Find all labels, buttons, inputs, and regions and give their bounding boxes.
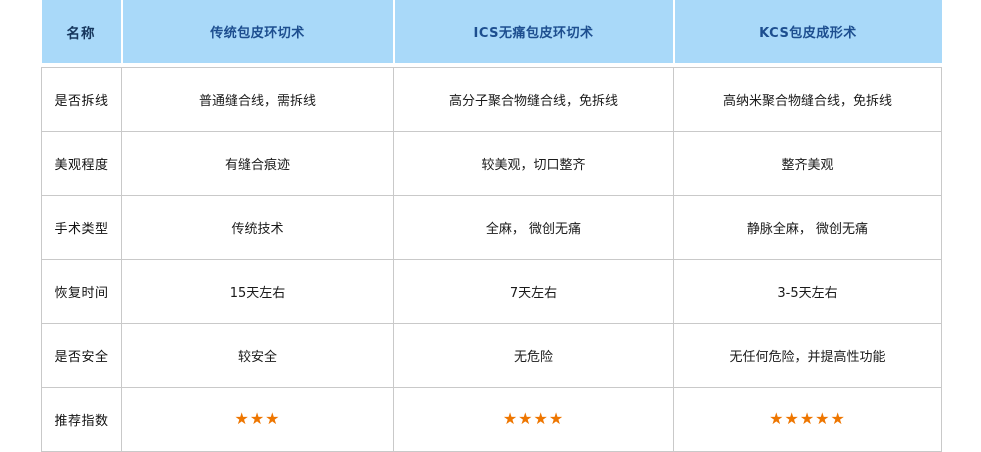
cell-suture-removal-traditional: 普通缝合线，需拆线: [122, 68, 394, 132]
cell-surgery-type-traditional: 传统技术: [122, 196, 394, 260]
row-label-recommendation-index: 推荐指数: [42, 388, 122, 452]
cell-aesthetics-kcs: 整齐美观: [674, 132, 942, 196]
table-row: 是否安全 较安全 无危险 无任何危险，并提高性功能: [42, 324, 942, 388]
row-label-surgery-type: 手术类型: [42, 196, 122, 260]
table-header-row: 名称 传统包皮环切术 ICS无痛包皮环切术 KCS包皮成形术: [42, 0, 942, 63]
table-row: 是否拆线 普通缝合线，需拆线 高分子聚合物缝合线，免拆线 高纳米聚合物缝合线，免…: [42, 68, 942, 132]
table-row: 推荐指数 ★★★ ★★★★ ★★★★★: [42, 388, 942, 452]
cell-suture-removal-ics: 高分子聚合物缝合线，免拆线: [394, 68, 674, 132]
cell-recovery-time-kcs: 3-5天左右: [674, 260, 942, 324]
cell-surgery-type-kcs: 静脉全麻， 微创无痛: [674, 196, 942, 260]
star-rating-traditional: ★★★: [234, 411, 280, 427]
cell-aesthetics-ics: 较美观，切口整齐: [394, 132, 674, 196]
cell-recovery-time-traditional: 15天左右: [122, 260, 394, 324]
cell-surgery-type-ics: 全麻， 微创无痛: [394, 196, 674, 260]
row-label-recovery-time: 恢复时间: [42, 260, 122, 324]
cell-recovery-time-ics: 7天左右: [394, 260, 674, 324]
header-cell-name: 名称: [42, 0, 122, 63]
cell-recommendation-ics: ★★★★: [394, 388, 674, 452]
cell-recommendation-kcs: ★★★★★: [674, 388, 942, 452]
table-row: 美观程度 有缝合痕迹 较美观，切口整齐 整齐美观: [42, 132, 942, 196]
cell-aesthetics-traditional: 有缝合痕迹: [122, 132, 394, 196]
comparison-table: 名称 传统包皮环切术 ICS无痛包皮环切术 KCS包皮成形术 是否拆线 普通缝合…: [41, 0, 942, 452]
header-cell-traditional: 传统包皮环切术: [122, 0, 394, 63]
star-rating-kcs: ★★★★★: [769, 411, 846, 427]
cell-safety-kcs: 无任何危险，并提高性功能: [674, 324, 942, 388]
row-label-aesthetics: 美观程度: [42, 132, 122, 196]
star-rating-ics: ★★★★: [503, 411, 564, 427]
table-row: 恢复时间 15天左右 7天左右 3-5天左右: [42, 260, 942, 324]
row-label-suture-removal: 是否拆线: [42, 68, 122, 132]
cell-suture-removal-kcs: 高纳米聚合物缝合线，免拆线: [674, 68, 942, 132]
cell-safety-ics: 无危险: [394, 324, 674, 388]
header-cell-kcs: KCS包皮成形术: [674, 0, 942, 63]
page-root: 名称 传统包皮环切术 ICS无痛包皮环切术 KCS包皮成形术 是否拆线 普通缝合…: [0, 0, 981, 447]
cell-recommendation-traditional: ★★★: [122, 388, 394, 452]
cell-safety-traditional: 较安全: [122, 324, 394, 388]
row-label-safety: 是否安全: [42, 324, 122, 388]
header-cell-ics: ICS无痛包皮环切术: [394, 0, 674, 63]
table-row: 手术类型 传统技术 全麻， 微创无痛 静脉全麻， 微创无痛: [42, 196, 942, 260]
